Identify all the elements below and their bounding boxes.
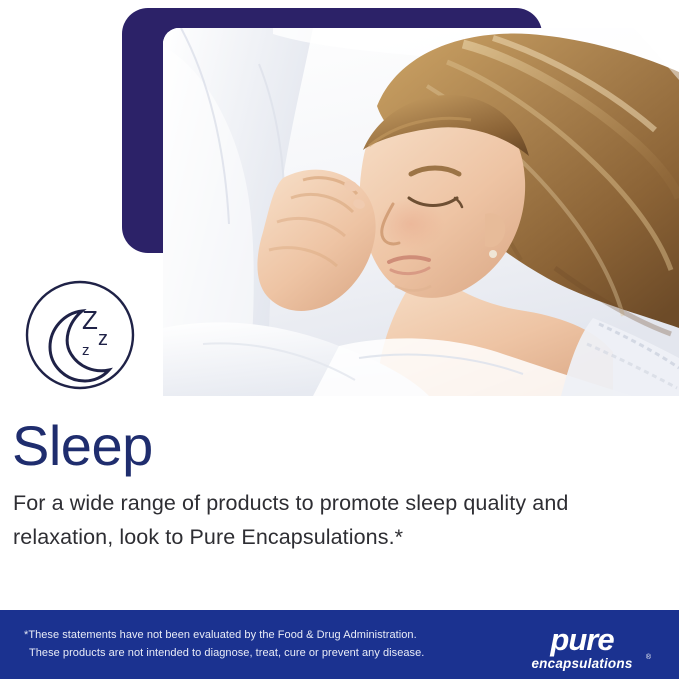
svg-text:z: z xyxy=(82,342,90,359)
moon-zzz-icon: Z z z xyxy=(24,279,136,391)
logo-wordmark: pure xyxy=(507,624,657,655)
disclaimer-text: *These statements have not been evaluate… xyxy=(24,626,454,662)
sleeping-woman-illustration xyxy=(163,28,679,396)
disclaimer-line-2: These products are not intended to diagn… xyxy=(24,644,454,662)
svg-text:Z: Z xyxy=(82,305,98,335)
registered-trademark-icon: ® xyxy=(646,654,651,661)
footer-bar: *These statements have not been evaluate… xyxy=(0,610,679,679)
moon-zzz-glyph: Z z z xyxy=(24,279,136,391)
logo-subtitle: encapsulations xyxy=(507,657,657,671)
page-title: Sleep xyxy=(12,418,153,474)
svg-text:z: z xyxy=(98,328,108,350)
body-copy: For a wide range of products to promote … xyxy=(13,487,653,555)
disclaimer-line-1: *These statements have not been evaluate… xyxy=(24,629,417,641)
hero-photo xyxy=(163,28,679,396)
pure-encapsulations-logo: pure encapsulations ® xyxy=(507,624,657,671)
